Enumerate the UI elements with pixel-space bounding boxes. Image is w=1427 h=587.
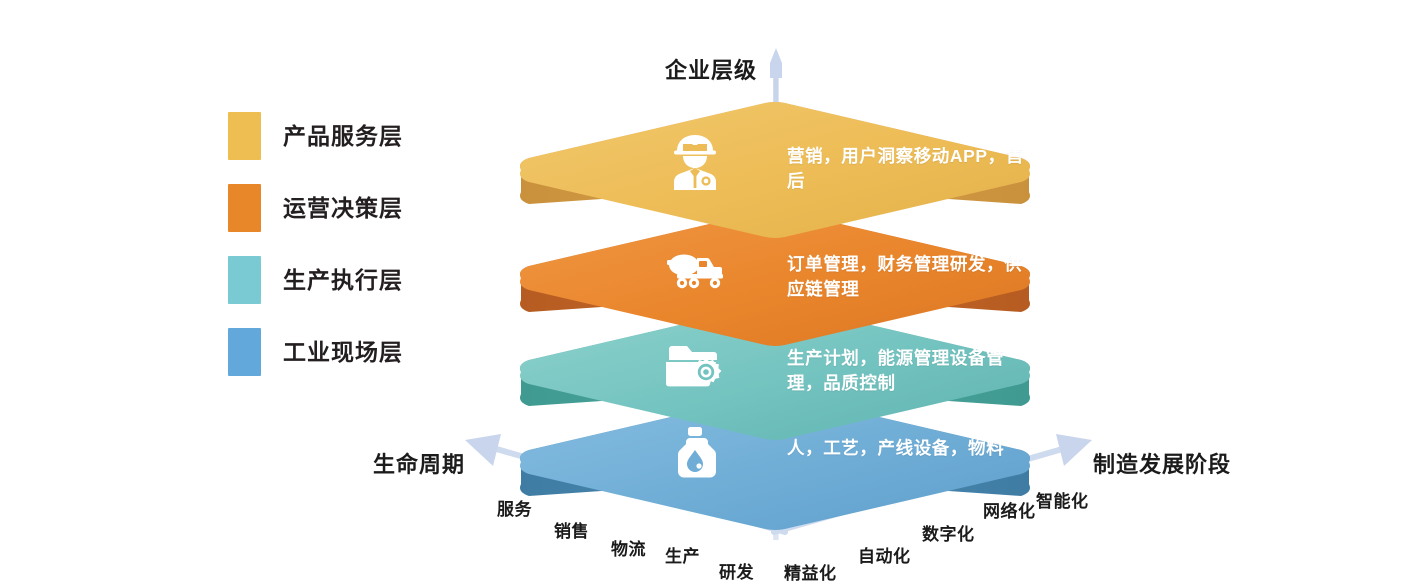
diagram-canvas: 人，工艺，产线设备，物料 (0, 0, 1427, 587)
layer-text-product-service: 营销，用户洞察移动APP，售后 (787, 144, 1027, 195)
tick-maturity-2: 数字化 (922, 520, 975, 545)
tick-maturity-4: 智能化 (1036, 487, 1089, 512)
tick-lifecycle-0: 服务 (497, 495, 532, 520)
tick-lifecycle-1: 销售 (554, 517, 589, 542)
tick-lifecycle-2: 物流 (611, 535, 646, 560)
tick-maturity-1: 自动化 (858, 542, 911, 567)
layer-plate-product-service[interactable]: 营销，用户洞察移动APP，售后 (515, 100, 1035, 260)
tick-lifecycle-4: 研发 (719, 558, 754, 583)
legend-item-industrial-field[interactable]: 工业现场层 (228, 328, 528, 376)
tick-lifecycle-3: 生产 (665, 542, 700, 567)
legend: 产品服务层 运营决策层 生产执行层 工业现场层 (228, 112, 528, 400)
legend-label-operation-decision: 运营决策层 (283, 197, 403, 220)
axis-title-lifecycle: 生命周期 (373, 447, 465, 479)
tick-maturity-3: 网络化 (983, 497, 1036, 522)
legend-item-product-service[interactable]: 产品服务层 (228, 112, 528, 160)
legend-item-operation-decision[interactable]: 运营决策层 (228, 184, 528, 232)
tick-maturity-0: 精益化 (784, 559, 837, 584)
swatch-industrial-field (228, 328, 261, 376)
swatch-operation-decision (228, 184, 261, 232)
legend-item-production-execution[interactable]: 生产执行层 (228, 256, 528, 304)
legend-label-production-execution: 生产执行层 (283, 269, 403, 292)
axis-title-manufacturing-stage: 制造发展阶段 (1093, 447, 1231, 479)
swatch-production-execution (228, 256, 261, 304)
swatch-product-service (228, 112, 261, 160)
legend-label-industrial-field: 工业现场层 (283, 341, 403, 364)
legend-label-product-service: 产品服务层 (283, 125, 403, 148)
axis-title-enterprise-level: 企业层级 (665, 53, 757, 85)
worker-helmet-icon (663, 130, 727, 194)
